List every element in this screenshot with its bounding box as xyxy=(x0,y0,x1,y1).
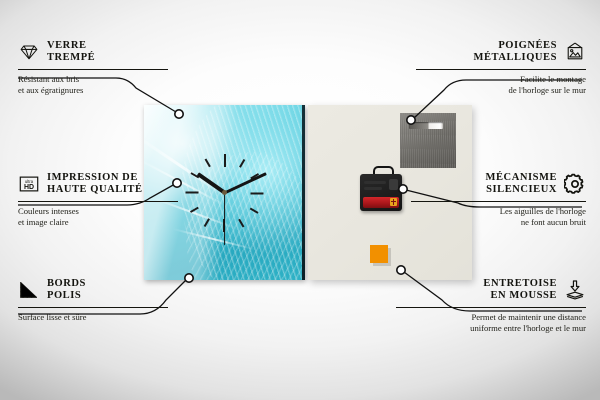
feature-subtitle: Résistant aux bris et aux égratignures xyxy=(18,74,168,95)
connector-dot-entretoise xyxy=(397,266,405,274)
feature-poignees-metalliques: POIGNÉES MÉTALLIQUES Facilite le montage… xyxy=(416,40,586,95)
feature-entretoise-en-mousse: ENTRETOISE EN MOUSSE Permet de maintenir… xyxy=(396,278,586,333)
feature-header: ultra HD IMPRESSION DE HAUTE QUALITÉ xyxy=(18,172,178,197)
foam-spacer-icon xyxy=(564,279,586,301)
feature-header: VERRE TREMPÉ xyxy=(18,40,168,65)
polished-edges-icon xyxy=(18,279,40,301)
feature-title: IMPRESSION DE HAUTE QUALITÉ xyxy=(47,172,143,197)
divider xyxy=(18,201,178,202)
feature-header: BORDS POLIS xyxy=(18,278,168,303)
feature-header: MÉCANISME SILENCIEUX xyxy=(411,172,586,197)
feature-impression-hd: ultra HD IMPRESSION DE HAUTE QUALITÉ Cou… xyxy=(18,172,178,227)
feature-bords-polis: BORDS POLIS Surface lisse et sûre xyxy=(18,278,168,323)
feature-subtitle: Surface lisse et sûre xyxy=(18,312,168,323)
divider xyxy=(416,69,586,70)
divider xyxy=(18,307,168,308)
connector-dot-bords xyxy=(185,274,193,282)
feature-mecanisme-silencieux: MÉCANISME SILENCIEUX Les aiguilles de l'… xyxy=(411,172,586,227)
ultra-hd-icon: ultra HD xyxy=(18,173,40,195)
connector-dot-verre xyxy=(175,110,183,118)
feature-title: ENTRETOISE EN MOUSSE xyxy=(483,278,557,303)
diamond-icon xyxy=(18,41,40,63)
gear-icon xyxy=(564,173,586,195)
feature-header: ENTRETOISE EN MOUSSE xyxy=(396,278,586,303)
infographic-stage: VERRE TREMPÉ Résistant aux bris et aux é… xyxy=(0,0,600,400)
feature-subtitle: Couleurs intenses et image claire xyxy=(18,206,178,227)
feature-title: BORDS POLIS xyxy=(47,278,86,303)
feature-title: VERRE TREMPÉ xyxy=(47,40,95,65)
svg-text:HD: HD xyxy=(24,185,34,192)
connector-dot-mecanisme xyxy=(399,185,407,193)
divider xyxy=(411,201,586,202)
feature-title: POIGNÉES MÉTALLIQUES xyxy=(474,40,557,65)
divider xyxy=(396,307,586,308)
divider xyxy=(18,69,168,70)
wall-mount-frame-icon xyxy=(564,41,586,63)
feature-verre-trempe: VERRE TREMPÉ Résistant aux bris et aux é… xyxy=(18,40,168,95)
connector-dot-poignees xyxy=(407,116,415,124)
feature-subtitle: Les aiguilles de l'horloge ne font aucun… xyxy=(411,206,586,227)
feature-subtitle: Facilite le montage de l'horloge sur le … xyxy=(416,74,586,95)
feature-subtitle: Permet de maintenir une distance uniform… xyxy=(396,312,586,333)
feature-header: POIGNÉES MÉTALLIQUES xyxy=(416,40,586,65)
feature-title: MÉCANISME SILENCIEUX xyxy=(486,172,557,197)
